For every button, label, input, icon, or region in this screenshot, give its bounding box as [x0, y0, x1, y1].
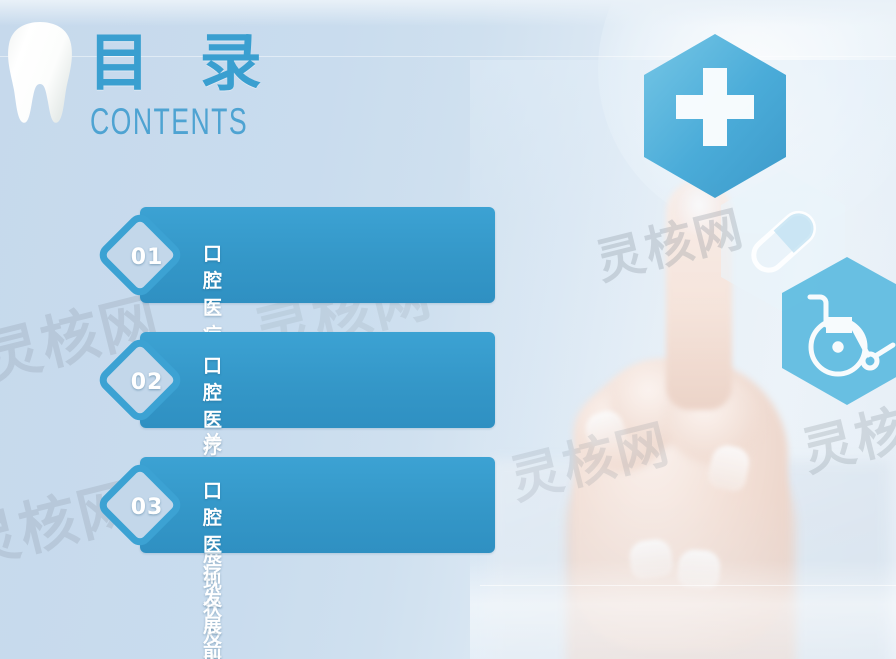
- background-band-lower: [480, 585, 896, 586]
- title-chinese: 目 录: [88, 26, 310, 100]
- background-lower-sheen: [470, 560, 896, 659]
- title-english: CONTENTS: [90, 102, 248, 142]
- tooth-icon: [4, 18, 76, 130]
- contents-item-bar-01[interactable]: [140, 207, 495, 303]
- contents-item-number-02: 02: [108, 370, 186, 395]
- contents-item-number-01: 01: [108, 245, 186, 270]
- background-top-highlight: [0, 0, 896, 26]
- contents-item-number-03: 03: [108, 495, 186, 520]
- contents-item-bar-03[interactable]: [140, 457, 495, 553]
- contents-item-bar-02[interactable]: [140, 332, 495, 428]
- page-title: 目 录 CONTENTS: [88, 26, 310, 142]
- presentation-slide: 灵核网 灵核网 灵核网 灵核网 灵核网 灵核网 灵核网 目 录 CONTENTS: [0, 0, 896, 659]
- wheelchair-icon: [780, 255, 896, 407]
